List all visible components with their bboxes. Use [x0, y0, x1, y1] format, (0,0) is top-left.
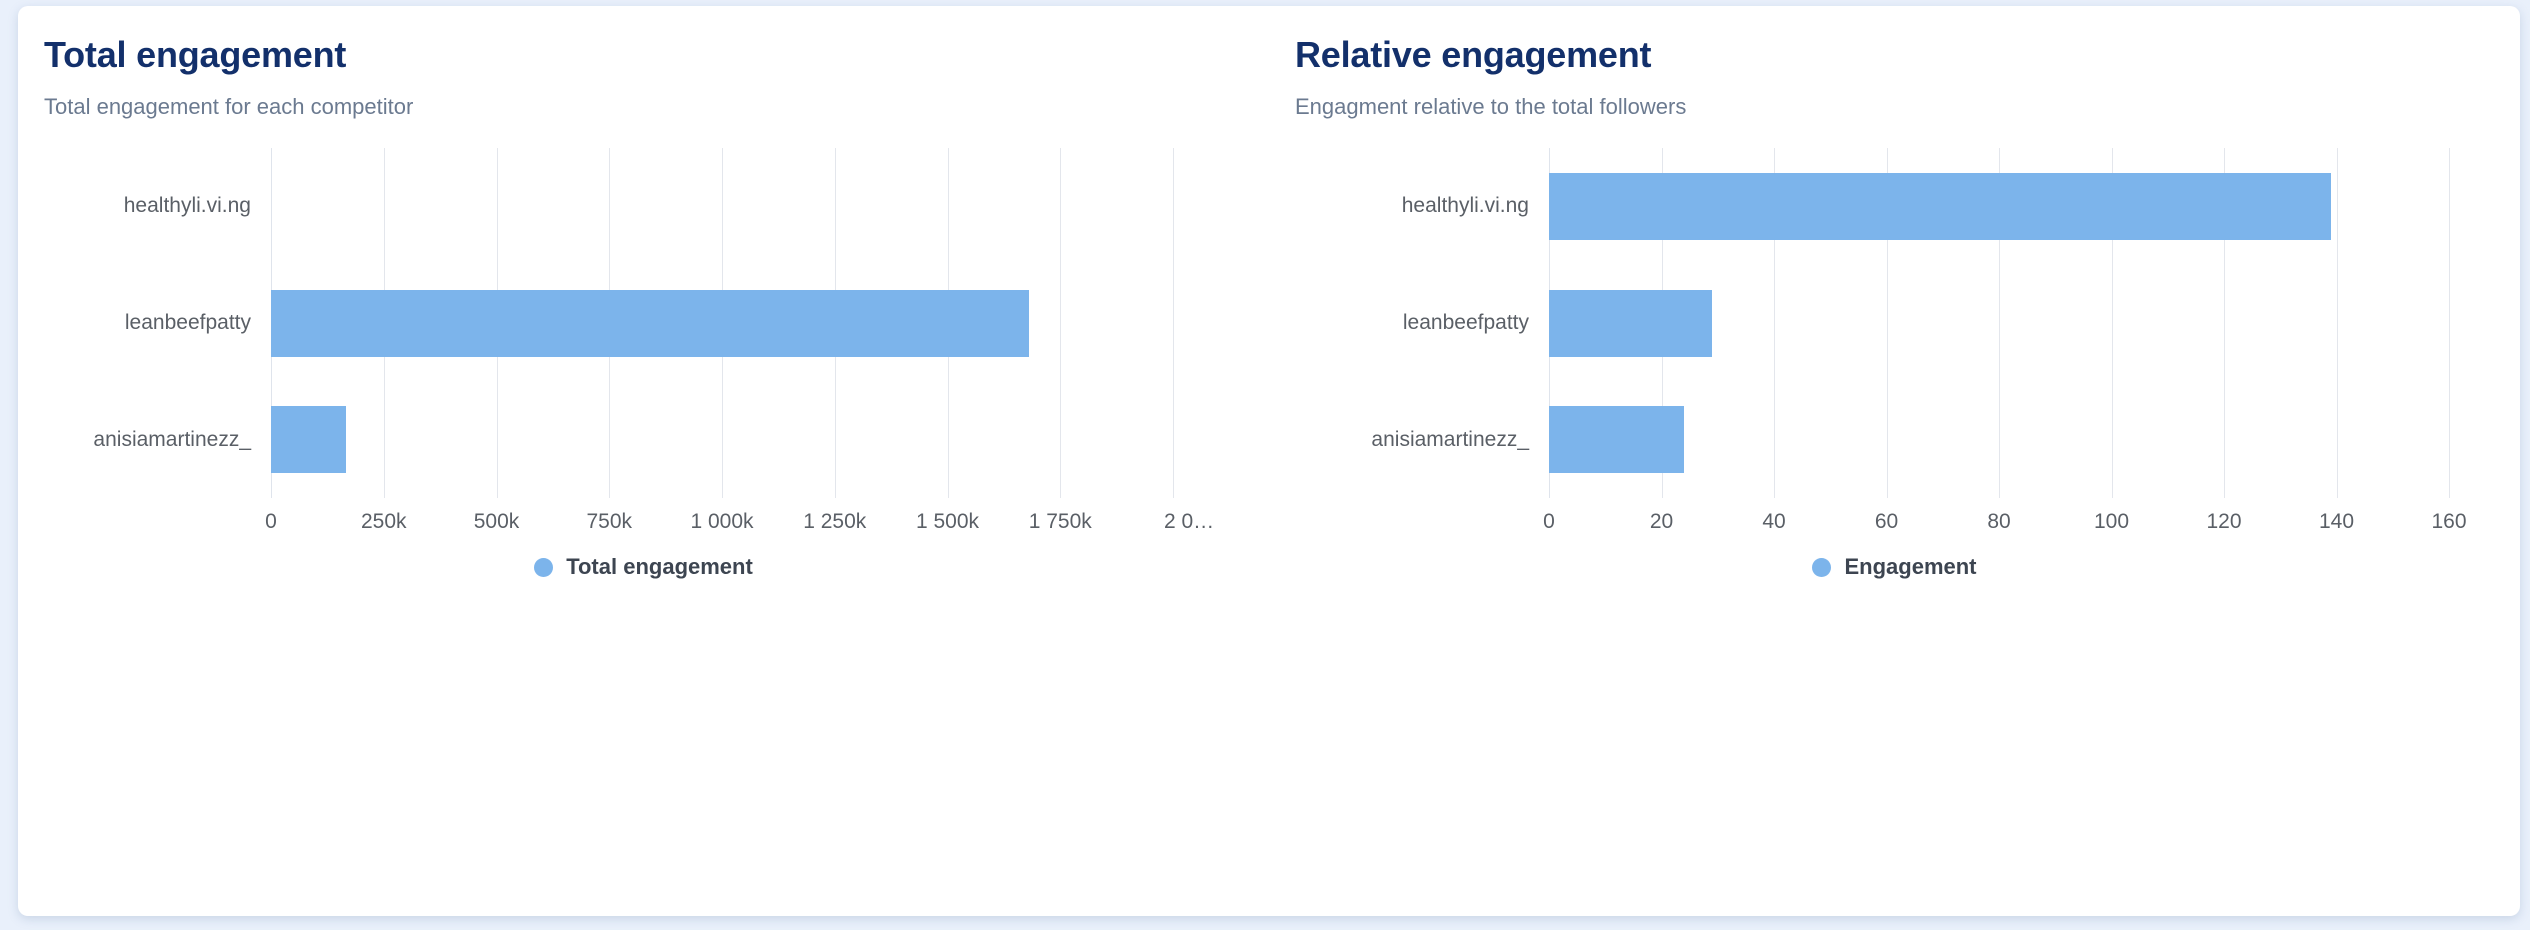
legend-dot-icon — [534, 558, 553, 577]
bar-row — [1549, 381, 2449, 498]
bar-row — [271, 148, 1173, 265]
dashboard-card: Total engagement Total engagement for ea… — [18, 6, 2520, 916]
legend-dot-icon — [1812, 558, 1831, 577]
legend-right: Engagement — [1269, 554, 2520, 580]
x-tick-label: 40 — [1762, 510, 1785, 534]
x-tick-label: 0 — [265, 510, 277, 534]
bar-healthyli[interactable] — [1549, 173, 2331, 240]
bar-leanbeefpatty[interactable] — [271, 290, 1029, 357]
category-label: anisiamartinezz_ — [1289, 381, 1539, 498]
category-axis-right: healthyli.vi.ng leanbeefpatty anisiamart… — [1289, 148, 1539, 498]
bar-row — [271, 265, 1173, 382]
bar-row — [1549, 148, 2449, 265]
bar-anisiamartinezz[interactable] — [1549, 406, 1684, 473]
bar-leanbeefpatty[interactable] — [1549, 290, 1712, 357]
x-tick-label: 1 500k — [916, 510, 979, 534]
category-label: healthyli.vi.ng — [1289, 148, 1539, 265]
category-label: leanbeefpatty — [18, 265, 261, 382]
legend-label: Engagement — [1844, 554, 1976, 580]
category-axis-left: healthyli.vi.ng leanbeefpatty anisiamart… — [18, 148, 261, 498]
gridline — [1173, 148, 1174, 498]
bars-right — [1549, 148, 2449, 498]
x-tick-label: 2 0… — [1164, 510, 1214, 534]
x-tick-label: 1 250k — [803, 510, 866, 534]
x-tick-label: 1 000k — [690, 510, 753, 534]
x-tick-label: 750k — [586, 510, 632, 534]
panel-total-engagement: Total engagement Total engagement for ea… — [18, 6, 1269, 916]
x-tick-label: 60 — [1875, 510, 1898, 534]
x-tick-label: 20 — [1650, 510, 1673, 534]
x-tick-label: 0 — [1543, 510, 1555, 534]
legend-item[interactable]: Engagement — [1812, 554, 1976, 580]
category-label: healthyli.vi.ng — [18, 148, 261, 265]
legend-left: Total engagement — [18, 554, 1269, 580]
chart-relative-engagement: healthyli.vi.ng leanbeefpatty anisiamart… — [1269, 134, 2520, 916]
x-tick-label: 250k — [361, 510, 407, 534]
plot-area-left — [271, 148, 1173, 498]
x-tick-label: 120 — [2206, 510, 2241, 534]
x-tick-label: 160 — [2431, 510, 2466, 534]
x-axis-ticks-right: 020406080100120140160 — [1549, 498, 2449, 544]
legend-item[interactable]: Total engagement — [534, 554, 753, 580]
gridline — [2449, 148, 2450, 498]
panel-subtitle-total-engagement: Total engagement for each competitor — [44, 94, 1269, 120]
panel-relative-engagement: Relative engagement Engagment relative t… — [1269, 6, 2520, 916]
bar-row — [271, 381, 1173, 498]
panel-title-relative-engagement: Relative engagement — [1295, 34, 2520, 76]
plot-area-right — [1549, 148, 2449, 498]
panel-title-total-engagement: Total engagement — [44, 34, 1269, 76]
category-label: leanbeefpatty — [1289, 265, 1539, 382]
category-label: anisiamartinezz_ — [18, 381, 261, 498]
bars-left — [271, 148, 1173, 498]
page-root: Total engagement Total engagement for ea… — [0, 0, 2530, 930]
panels-container: Total engagement Total engagement for ea… — [18, 6, 2520, 916]
x-tick-label: 140 — [2319, 510, 2354, 534]
legend-label: Total engagement — [566, 554, 753, 580]
x-tick-label: 500k — [474, 510, 520, 534]
x-tick-label: 100 — [2094, 510, 2129, 534]
panel-subtitle-relative-engagement: Engagment relative to the total follower… — [1295, 94, 2520, 120]
bar-row — [1549, 265, 2449, 382]
bar-anisiamartinezz[interactable] — [271, 406, 346, 473]
chart-total-engagement: healthyli.vi.ng leanbeefpatty anisiamart… — [18, 134, 1269, 916]
x-axis-ticks-left: 0250k500k750k1 000k1 250k1 500k1 750k2 0… — [271, 498, 1173, 544]
x-tick-label: 80 — [1987, 510, 2010, 534]
x-tick-label: 1 750k — [1029, 510, 1092, 534]
